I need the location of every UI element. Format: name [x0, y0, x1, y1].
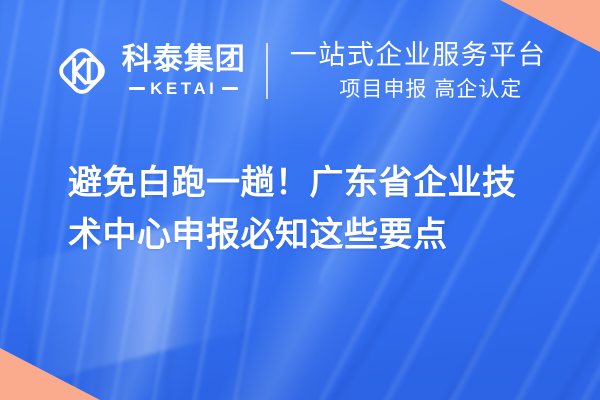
slogan-sub: 项目申报 高企认定	[339, 78, 522, 102]
banner-header: 科泰集团 KETAI 一站式企业服务平台 项目申报 高企认定	[0, 40, 600, 102]
brand-name-cn: 科泰集团	[122, 45, 246, 75]
brand-rule-left-icon	[129, 87, 145, 90]
promo-banner: 科泰集团 KETAI 一站式企业服务平台 项目申报 高企认定 避免白跑一趟！广东…	[0, 0, 600, 400]
background-bottom-shade	[0, 240, 600, 400]
brand-text-block: 科泰集团 KETAI	[122, 45, 246, 97]
ketai-diamond-kt-monogram-icon	[54, 43, 110, 99]
brand-lockup: 科泰集团 KETAI	[54, 43, 246, 99]
slogan-block: 一站式企业服务平台 项目申报 高企认定	[290, 40, 547, 102]
brand-name-en-row: KETAI	[129, 80, 238, 97]
headline-title: 避免白跑一趟！广东省企业技术中心申报必知这些要点	[68, 158, 544, 261]
brand-rule-right-icon	[222, 87, 238, 90]
brand-name-en: KETAI	[150, 80, 217, 97]
slogan-main: 一站式企业服务平台	[290, 40, 547, 71]
header-divider	[266, 43, 268, 99]
